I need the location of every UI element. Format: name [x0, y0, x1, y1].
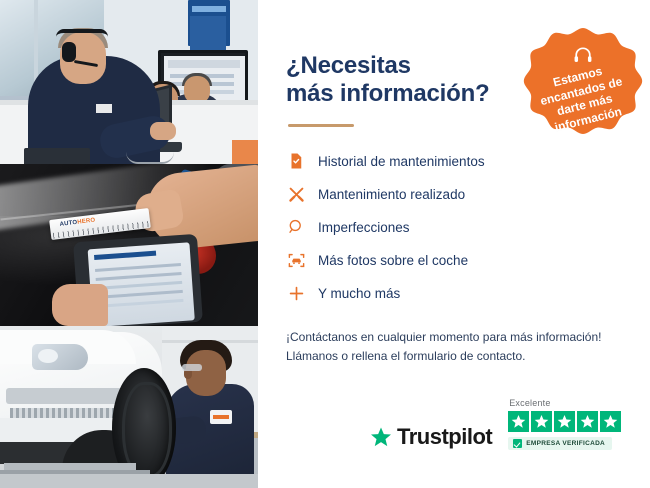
trustpilot-wordmark: Trustpilot [397, 424, 492, 450]
mechanic-glasses-decor [182, 364, 202, 371]
car-headlight-decor [32, 344, 88, 370]
agent-1-hand-decor [150, 122, 176, 140]
title-divider [288, 124, 354, 127]
tools-icon [286, 184, 306, 204]
magnifier-icon [286, 217, 306, 237]
star-5 [600, 411, 621, 432]
trustpilot-rating: Excelente EMPRESA VERIFICADA [508, 398, 621, 450]
verified-check-icon [513, 439, 522, 448]
photo-body-inspection: AUTOHERO [0, 164, 258, 326]
agent-1-headset-cup-decor [62, 42, 76, 62]
cable-decor [126, 152, 174, 164]
mechanic-head-decor [186, 350, 226, 396]
feature-item-label: Historial de mantenimientos [318, 154, 485, 169]
technician-fingers-decor [52, 284, 108, 326]
content-panel: ¿Necesitas más información? Historial de… [258, 0, 650, 488]
star-3 [554, 411, 575, 432]
trustpilot-rating-label: Excelente [508, 398, 550, 408]
contact-copy: ¡Contáctanos en cualquier momento para m… [286, 328, 626, 368]
feature-item-label: Mantenimiento realizado [318, 187, 465, 202]
star-2 [531, 411, 552, 432]
orange-rack-decor [232, 140, 258, 164]
page-title: ¿Necesitas más información? [286, 52, 526, 108]
lift-arm-decor [4, 463, 136, 470]
feature-item-label: Y mucho más [318, 286, 400, 301]
workshop-floor-decor [0, 474, 258, 488]
feature-item-label: Más fotos sobre el coche [318, 253, 468, 268]
trustpilot-logo[interactable]: Trustpilot [370, 424, 492, 450]
photo-call-center [0, 0, 258, 164]
plus-icon [286, 283, 306, 303]
mechanic-logo-patch-decor [210, 410, 232, 424]
photo-column: AUTOHERO [0, 0, 258, 488]
feature-item-imperfections: Imperfecciones [286, 211, 626, 244]
wall-poster-2-decor [190, 16, 226, 52]
page-title-line-2: más información? [286, 80, 490, 107]
contact-copy-line-2: Llámanos o rellena el formulario de cont… [286, 347, 626, 367]
feature-item-more-photos: Más fotos sobre el coche [286, 244, 626, 277]
clipboard-check-icon [286, 151, 306, 171]
info-promo-card: AUTOHERO [0, 0, 650, 488]
seal-text: Estamos encantados de darte más informac… [529, 58, 636, 138]
keyboard-decor [24, 148, 90, 164]
feature-item-label: Imperfecciones [318, 220, 410, 235]
trustpilot-star-icon [370, 426, 392, 448]
photo-wheel-inspection [0, 326, 258, 488]
star-1 [508, 411, 529, 432]
agent-1-headset-band-decor [56, 29, 108, 37]
feature-item-maintenance-history: Historial de mantenimientos [286, 145, 626, 178]
contact-copy-line-1: ¡Contáctanos en cualquier momento para m… [286, 328, 626, 348]
headset-icon [572, 44, 594, 66]
star-4 [577, 411, 598, 432]
trustpilot-block[interactable]: Trustpilot Excelente EMPRESA VERIFICADA [370, 398, 621, 450]
page-title-line-1: ¿Necesitas [286, 52, 411, 79]
feature-item-maintenance-done: Mantenimiento realizado [286, 178, 626, 211]
car-grille-decor [6, 388, 122, 404]
trustpilot-stars [508, 411, 621, 432]
verified-business-badge: EMPRESA VERIFICADA [508, 437, 612, 450]
happy-to-help-seal: Estamos encantados de darte más informac… [521, 22, 645, 146]
feature-item-much-more: Y mucho más [286, 277, 626, 310]
ruler-brand-label: AUTOHERO [59, 218, 95, 228]
feature-list: Historial de mantenimientos Mantenimient… [286, 145, 626, 310]
agent-1-name-tag-decor [96, 104, 112, 113]
verified-business-label: EMPRESA VERIFICADA [526, 440, 605, 447]
car-scan-icon [286, 250, 306, 270]
car-lower-grille-decor [10, 408, 114, 418]
